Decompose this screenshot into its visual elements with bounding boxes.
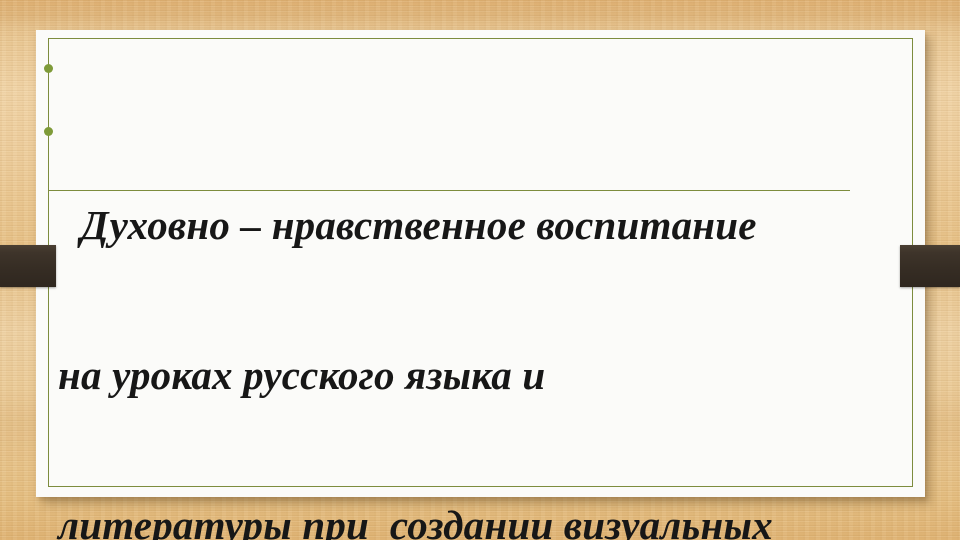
slide-title: Духовно – нравственное воспитание на уро… [58, 100, 904, 540]
title-line-1: Духовно – нравственное воспитание [58, 200, 904, 250]
bullet-dot-icon-2 [44, 127, 53, 136]
side-tab-right [900, 245, 960, 287]
presentation-slide: Духовно – нравственное воспитание на уро… [0, 0, 960, 540]
title-line-2: на уроках русского языка и [58, 350, 904, 400]
title-line-3: литературы при создании визуальных [58, 500, 904, 540]
side-tab-left [0, 245, 56, 287]
bullet-dot-icon-1 [44, 64, 53, 73]
